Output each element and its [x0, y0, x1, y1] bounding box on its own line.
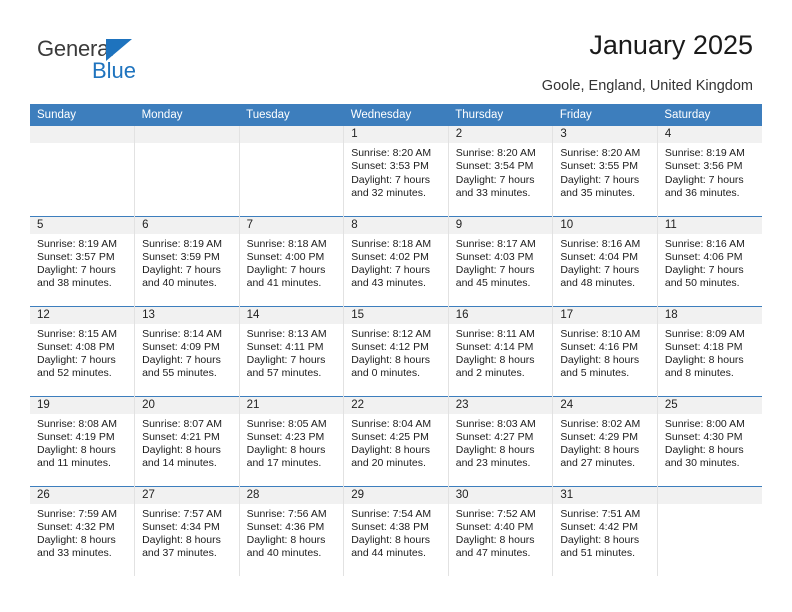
- day-info-sunset: Sunset: 4:00 PM: [247, 251, 339, 264]
- weekday-header-saturday: Saturday: [657, 104, 762, 126]
- day-info-daylight1: Daylight: 7 hours: [37, 264, 129, 277]
- calendar-day-cell[interactable]: 18Sunrise: 8:09 AMSunset: 4:18 PMDayligh…: [657, 306, 762, 396]
- day-info: Sunrise: 8:12 AMSunset: 4:12 PMDaylight:…: [344, 324, 448, 381]
- calendar-day-cell[interactable]: 27Sunrise: 7:57 AMSunset: 4:34 PMDayligh…: [135, 486, 240, 576]
- day-info-sunset: Sunset: 3:56 PM: [665, 160, 757, 173]
- day-number: 30: [449, 487, 553, 504]
- day-info-sunrise: Sunrise: 8:08 AM: [37, 418, 129, 431]
- day-info-sunset: Sunset: 3:54 PM: [456, 160, 548, 173]
- day-info: Sunrise: 8:19 AMSunset: 3:57 PMDaylight:…: [30, 234, 134, 291]
- calendar-day-cell[interactable]: 15Sunrise: 8:12 AMSunset: 4:12 PMDayligh…: [344, 306, 449, 396]
- day-number: 5: [30, 217, 134, 234]
- day-info-sunrise: Sunrise: 7:52 AM: [456, 508, 548, 521]
- day-info-sunset: Sunset: 3:55 PM: [560, 160, 652, 173]
- day-info-daylight1: Daylight: 7 hours: [247, 354, 339, 367]
- day-info-daylight2: and 44 minutes.: [351, 547, 443, 560]
- calendar-day-cell[interactable]: 2Sunrise: 8:20 AMSunset: 3:54 PMDaylight…: [448, 126, 553, 216]
- day-info-daylight1: Daylight: 7 hours: [142, 354, 234, 367]
- day-info-daylight1: Daylight: 8 hours: [560, 444, 652, 457]
- day-info-daylight2: and 52 minutes.: [37, 367, 129, 380]
- day-info: Sunrise: 7:52 AMSunset: 4:40 PMDaylight:…: [449, 504, 553, 561]
- day-info-daylight2: and 2 minutes.: [456, 367, 548, 380]
- calendar-day-cell[interactable]: 9Sunrise: 8:17 AMSunset: 4:03 PMDaylight…: [448, 216, 553, 306]
- day-number: 11: [658, 217, 762, 234]
- calendar-day-cell[interactable]: 10Sunrise: 8:16 AMSunset: 4:04 PMDayligh…: [553, 216, 658, 306]
- day-number: 18: [658, 307, 762, 324]
- calendar-day-cell[interactable]: 4Sunrise: 8:19 AMSunset: 3:56 PMDaylight…: [657, 126, 762, 216]
- day-info: Sunrise: 8:20 AMSunset: 3:54 PMDaylight:…: [449, 143, 553, 200]
- calendar-day-cell[interactable]: 5Sunrise: 8:19 AMSunset: 3:57 PMDaylight…: [30, 216, 135, 306]
- day-info-daylight1: Daylight: 7 hours: [560, 174, 652, 187]
- day-info-sunrise: Sunrise: 8:16 AM: [560, 238, 652, 251]
- day-info: Sunrise: 8:14 AMSunset: 4:09 PMDaylight:…: [135, 324, 239, 381]
- calendar-day-cell[interactable]: 24Sunrise: 8:02 AMSunset: 4:29 PMDayligh…: [553, 396, 658, 486]
- day-info: Sunrise: 8:09 AMSunset: 4:18 PMDaylight:…: [658, 324, 762, 381]
- day-info-sunrise: Sunrise: 8:11 AM: [456, 328, 548, 341]
- day-info-daylight1: Daylight: 8 hours: [351, 534, 443, 547]
- day-info-daylight1: Daylight: 7 hours: [351, 264, 443, 277]
- day-info-sunrise: Sunrise: 8:19 AM: [37, 238, 129, 251]
- weekday-header-wednesday: Wednesday: [344, 104, 449, 126]
- day-info: Sunrise: 7:57 AMSunset: 4:34 PMDaylight:…: [135, 504, 239, 561]
- calendar-day-cell[interactable]: 21Sunrise: 8:05 AMSunset: 4:23 PMDayligh…: [239, 396, 344, 486]
- day-info-daylight1: Daylight: 7 hours: [456, 174, 548, 187]
- day-info: Sunrise: 8:10 AMSunset: 4:16 PMDaylight:…: [553, 324, 657, 381]
- day-info-sunrise: Sunrise: 8:20 AM: [560, 147, 652, 160]
- day-info-daylight1: Daylight: 8 hours: [665, 354, 757, 367]
- day-info-sunrise: Sunrise: 8:07 AM: [142, 418, 234, 431]
- day-info-sunrise: Sunrise: 7:57 AM: [142, 508, 234, 521]
- calendar-day-cell[interactable]: 22Sunrise: 8:04 AMSunset: 4:25 PMDayligh…: [344, 396, 449, 486]
- day-info-daylight2: and 0 minutes.: [351, 367, 443, 380]
- day-info-sunset: Sunset: 4:40 PM: [456, 521, 548, 534]
- logo-text-blue: Blue: [92, 58, 136, 84]
- day-number: 4: [658, 126, 762, 143]
- day-info-daylight2: and 35 minutes.: [560, 187, 652, 200]
- day-number: 22: [344, 397, 448, 414]
- day-info-daylight1: Daylight: 8 hours: [37, 534, 129, 547]
- calendar-day-cell-empty: [30, 126, 135, 216]
- day-info: Sunrise: 8:20 AMSunset: 3:53 PMDaylight:…: [344, 143, 448, 200]
- day-info-sunrise: Sunrise: 8:18 AM: [247, 238, 339, 251]
- day-info-sunrise: Sunrise: 7:54 AM: [351, 508, 443, 521]
- day-info-sunset: Sunset: 4:02 PM: [351, 251, 443, 264]
- day-number: 29: [344, 487, 448, 504]
- day-info-daylight2: and 57 minutes.: [247, 367, 339, 380]
- day-number: 25: [658, 397, 762, 414]
- day-info-sunrise: Sunrise: 7:51 AM: [560, 508, 652, 521]
- day-info-sunrise: Sunrise: 8:05 AM: [247, 418, 339, 431]
- calendar-body: 1Sunrise: 8:20 AMSunset: 3:53 PMDaylight…: [30, 126, 762, 576]
- day-info-sunrise: Sunrise: 8:15 AM: [37, 328, 129, 341]
- day-info-sunrise: Sunrise: 8:17 AM: [456, 238, 548, 251]
- day-info-daylight2: and 48 minutes.: [560, 277, 652, 290]
- day-info-daylight1: Daylight: 8 hours: [247, 534, 339, 547]
- day-info-daylight1: Daylight: 7 hours: [142, 264, 234, 277]
- day-info: Sunrise: 8:08 AMSunset: 4:19 PMDaylight:…: [30, 414, 134, 471]
- day-number: [135, 126, 239, 143]
- day-info-sunrise: Sunrise: 8:13 AM: [247, 328, 339, 341]
- day-info-sunset: Sunset: 4:38 PM: [351, 521, 443, 534]
- calendar-week-row: 19Sunrise: 8:08 AMSunset: 4:19 PMDayligh…: [30, 396, 762, 486]
- day-info-daylight1: Daylight: 8 hours: [351, 354, 443, 367]
- generalblue-logo[interactable]: General Blue: [37, 36, 177, 88]
- day-info: Sunrise: 8:11 AMSunset: 4:14 PMDaylight:…: [449, 324, 553, 381]
- day-info-sunset: Sunset: 4:23 PM: [247, 431, 339, 444]
- calendar-day-cell-empty: [239, 126, 344, 216]
- weekday-header-friday: Friday: [553, 104, 658, 126]
- day-number: 31: [553, 487, 657, 504]
- day-info-sunrise: Sunrise: 8:12 AM: [351, 328, 443, 341]
- day-info-sunset: Sunset: 4:29 PM: [560, 431, 652, 444]
- day-info: Sunrise: 8:19 AMSunset: 3:56 PMDaylight:…: [658, 143, 762, 200]
- day-info-sunrise: Sunrise: 8:19 AM: [665, 147, 757, 160]
- day-info-daylight2: and 36 minutes.: [665, 187, 757, 200]
- day-number: 13: [135, 307, 239, 324]
- day-info-daylight1: Daylight: 8 hours: [560, 354, 652, 367]
- day-info-daylight2: and 5 minutes.: [560, 367, 652, 380]
- day-number: 15: [344, 307, 448, 324]
- calendar-week-row: 5Sunrise: 8:19 AMSunset: 3:57 PMDaylight…: [30, 216, 762, 306]
- day-info-daylight2: and 33 minutes.: [456, 187, 548, 200]
- day-info-sunset: Sunset: 4:08 PM: [37, 341, 129, 354]
- day-info-daylight1: Daylight: 7 hours: [247, 264, 339, 277]
- day-info: Sunrise: 8:00 AMSunset: 4:30 PMDaylight:…: [658, 414, 762, 471]
- day-number: 6: [135, 217, 239, 234]
- calendar-day-cell[interactable]: 16Sunrise: 8:11 AMSunset: 4:14 PMDayligh…: [448, 306, 553, 396]
- day-info-sunrise: Sunrise: 8:09 AM: [665, 328, 757, 341]
- weekday-header-row: Sunday Monday Tuesday Wednesday Thursday…: [30, 104, 762, 126]
- day-info-daylight1: Daylight: 8 hours: [142, 444, 234, 457]
- day-number: [240, 126, 344, 143]
- day-info-daylight2: and 43 minutes.: [351, 277, 443, 290]
- day-info: Sunrise: 8:13 AMSunset: 4:11 PMDaylight:…: [240, 324, 344, 381]
- weekday-header-thursday: Thursday: [448, 104, 553, 126]
- day-info-sunset: Sunset: 4:14 PM: [456, 341, 548, 354]
- day-info-sunrise: Sunrise: 8:03 AM: [456, 418, 548, 431]
- calendar-day-cell[interactable]: 29Sunrise: 7:54 AMSunset: 4:38 PMDayligh…: [344, 486, 449, 576]
- day-info-daylight1: Daylight: 7 hours: [456, 264, 548, 277]
- day-info-sunrise: Sunrise: 8:20 AM: [351, 147, 443, 160]
- day-info: Sunrise: 8:02 AMSunset: 4:29 PMDaylight:…: [553, 414, 657, 471]
- page-subtitle: Goole, England, United Kingdom: [542, 78, 753, 94]
- day-info-sunrise: Sunrise: 8:00 AM: [665, 418, 757, 431]
- day-number: 16: [449, 307, 553, 324]
- day-info-sunset: Sunset: 4:18 PM: [665, 341, 757, 354]
- day-info-daylight1: Daylight: 7 hours: [351, 174, 443, 187]
- day-number: 26: [30, 487, 134, 504]
- day-info-sunset: Sunset: 4:36 PM: [247, 521, 339, 534]
- day-info-sunrise: Sunrise: 8:18 AM: [351, 238, 443, 251]
- day-number: 12: [30, 307, 134, 324]
- day-info-daylight2: and 45 minutes.: [456, 277, 548, 290]
- day-info-sunset: Sunset: 4:21 PM: [142, 431, 234, 444]
- calendar-day-cell[interactable]: 23Sunrise: 8:03 AMSunset: 4:27 PMDayligh…: [448, 396, 553, 486]
- calendar-day-cell[interactable]: 14Sunrise: 8:13 AMSunset: 4:11 PMDayligh…: [239, 306, 344, 396]
- day-info-sunset: Sunset: 4:06 PM: [665, 251, 757, 264]
- weekday-header-monday: Monday: [135, 104, 240, 126]
- calendar-day-cell[interactable]: 19Sunrise: 8:08 AMSunset: 4:19 PMDayligh…: [30, 396, 135, 486]
- day-info-daylight1: Daylight: 8 hours: [560, 534, 652, 547]
- day-number: 17: [553, 307, 657, 324]
- day-info-sunset: Sunset: 4:03 PM: [456, 251, 548, 264]
- day-info: Sunrise: 8:15 AMSunset: 4:08 PMDaylight:…: [30, 324, 134, 381]
- day-info: Sunrise: 8:18 AMSunset: 4:00 PMDaylight:…: [240, 234, 344, 291]
- day-info-sunrise: Sunrise: 8:04 AM: [351, 418, 443, 431]
- day-number: 14: [240, 307, 344, 324]
- day-number: 27: [135, 487, 239, 504]
- day-info-daylight2: and 50 minutes.: [665, 277, 757, 290]
- page-header: General Blue January 2025 Goole, England…: [0, 0, 792, 103]
- day-number: 2: [449, 126, 553, 143]
- calendar-day-cell[interactable]: 25Sunrise: 8:00 AMSunset: 4:30 PMDayligh…: [657, 396, 762, 486]
- day-info-sunset: Sunset: 3:53 PM: [351, 160, 443, 173]
- calendar-day-cell[interactable]: 17Sunrise: 8:10 AMSunset: 4:16 PMDayligh…: [553, 306, 658, 396]
- day-info: Sunrise: 8:19 AMSunset: 3:59 PMDaylight:…: [135, 234, 239, 291]
- calendar-day-cell[interactable]: 8Sunrise: 8:18 AMSunset: 4:02 PMDaylight…: [344, 216, 449, 306]
- day-info-daylight2: and 41 minutes.: [247, 277, 339, 290]
- day-info: Sunrise: 8:17 AMSunset: 4:03 PMDaylight:…: [449, 234, 553, 291]
- day-number: 3: [553, 126, 657, 143]
- day-info-daylight1: Daylight: 8 hours: [37, 444, 129, 457]
- day-number: 28: [240, 487, 344, 504]
- day-info-sunset: Sunset: 4:25 PM: [351, 431, 443, 444]
- day-info-sunset: Sunset: 4:16 PM: [560, 341, 652, 354]
- day-info-daylight1: Daylight: 8 hours: [456, 354, 548, 367]
- day-info-daylight2: and 8 minutes.: [665, 367, 757, 380]
- day-info-daylight1: Daylight: 8 hours: [456, 534, 548, 547]
- day-info-sunset: Sunset: 4:19 PM: [37, 431, 129, 444]
- day-info: Sunrise: 8:16 AMSunset: 4:06 PMDaylight:…: [658, 234, 762, 291]
- calendar-day-cell[interactable]: 7Sunrise: 8:18 AMSunset: 4:00 PMDaylight…: [239, 216, 344, 306]
- calendar-day-cell[interactable]: 26Sunrise: 7:59 AMSunset: 4:32 PMDayligh…: [30, 486, 135, 576]
- day-info-sunrise: Sunrise: 7:59 AM: [37, 508, 129, 521]
- calendar-week-row: 26Sunrise: 7:59 AMSunset: 4:32 PMDayligh…: [30, 486, 762, 576]
- day-info-daylight2: and 20 minutes.: [351, 457, 443, 470]
- day-info-daylight2: and 40 minutes.: [247, 547, 339, 560]
- calendar-container: Sunday Monday Tuesday Wednesday Thursday…: [30, 104, 762, 576]
- day-number: 24: [553, 397, 657, 414]
- calendar-day-cell[interactable]: 12Sunrise: 8:15 AMSunset: 4:08 PMDayligh…: [30, 306, 135, 396]
- day-number: [658, 487, 762, 504]
- calendar-table: Sunday Monday Tuesday Wednesday Thursday…: [30, 104, 762, 576]
- day-info-daylight2: and 47 minutes.: [456, 547, 548, 560]
- day-number: 23: [449, 397, 553, 414]
- day-info-daylight1: Daylight: 7 hours: [665, 174, 757, 187]
- weekday-header-sunday: Sunday: [30, 104, 135, 126]
- day-info-sunrise: Sunrise: 8:19 AM: [142, 238, 234, 251]
- day-info: Sunrise: 8:20 AMSunset: 3:55 PMDaylight:…: [553, 143, 657, 200]
- day-number: 1: [344, 126, 448, 143]
- day-number: 8: [344, 217, 448, 234]
- day-info-sunset: Sunset: 4:12 PM: [351, 341, 443, 354]
- day-info: Sunrise: 8:05 AMSunset: 4:23 PMDaylight:…: [240, 414, 344, 471]
- day-info: Sunrise: 7:51 AMSunset: 4:42 PMDaylight:…: [553, 504, 657, 561]
- calendar-day-cell-empty: [135, 126, 240, 216]
- day-info-daylight1: Daylight: 7 hours: [560, 264, 652, 277]
- calendar-day-cell[interactable]: 6Sunrise: 8:19 AMSunset: 3:59 PMDaylight…: [135, 216, 240, 306]
- day-info-daylight2: and 32 minutes.: [351, 187, 443, 200]
- day-number: 19: [30, 397, 134, 414]
- day-info: Sunrise: 7:59 AMSunset: 4:32 PMDaylight:…: [30, 504, 134, 561]
- calendar-day-cell[interactable]: 13Sunrise: 8:14 AMSunset: 4:09 PMDayligh…: [135, 306, 240, 396]
- calendar-day-cell[interactable]: 1Sunrise: 8:20 AMSunset: 3:53 PMDaylight…: [344, 126, 449, 216]
- day-info-daylight2: and 55 minutes.: [142, 367, 234, 380]
- day-info-sunrise: Sunrise: 8:02 AM: [560, 418, 652, 431]
- day-info: Sunrise: 8:03 AMSunset: 4:27 PMDaylight:…: [449, 414, 553, 471]
- day-info: Sunrise: 8:18 AMSunset: 4:02 PMDaylight:…: [344, 234, 448, 291]
- day-info-daylight2: and 33 minutes.: [37, 547, 129, 560]
- day-info-sunset: Sunset: 4:30 PM: [665, 431, 757, 444]
- day-number: 9: [449, 217, 553, 234]
- day-info: Sunrise: 8:16 AMSunset: 4:04 PMDaylight:…: [553, 234, 657, 291]
- day-info-daylight2: and 37 minutes.: [142, 547, 234, 560]
- day-info: Sunrise: 7:54 AMSunset: 4:38 PMDaylight:…: [344, 504, 448, 561]
- day-info-sunset: Sunset: 3:57 PM: [37, 251, 129, 264]
- day-number: [30, 126, 134, 143]
- calendar-head: Sunday Monday Tuesday Wednesday Thursday…: [30, 104, 762, 126]
- day-info-sunrise: Sunrise: 8:10 AM: [560, 328, 652, 341]
- day-number: 20: [135, 397, 239, 414]
- calendar-page: General Blue January 2025 Goole, England…: [0, 0, 792, 612]
- day-info-daylight2: and 27 minutes.: [560, 457, 652, 470]
- page-title: January 2025: [589, 30, 753, 61]
- day-info-sunset: Sunset: 4:11 PM: [247, 341, 339, 354]
- day-info-sunset: Sunset: 4:42 PM: [560, 521, 652, 534]
- day-info-daylight1: Daylight: 8 hours: [142, 534, 234, 547]
- day-info-sunset: Sunset: 4:32 PM: [37, 521, 129, 534]
- day-info-sunrise: Sunrise: 8:14 AM: [142, 328, 234, 341]
- day-info: Sunrise: 7:56 AMSunset: 4:36 PMDaylight:…: [240, 504, 344, 561]
- calendar-day-cell[interactable]: 28Sunrise: 7:56 AMSunset: 4:36 PMDayligh…: [239, 486, 344, 576]
- day-info-daylight2: and 40 minutes.: [142, 277, 234, 290]
- day-info-daylight1: Daylight: 8 hours: [456, 444, 548, 457]
- day-info-daylight1: Daylight: 8 hours: [247, 444, 339, 457]
- day-info-sunset: Sunset: 4:34 PM: [142, 521, 234, 534]
- day-info-sunrise: Sunrise: 7:56 AM: [247, 508, 339, 521]
- day-info: Sunrise: 8:04 AMSunset: 4:25 PMDaylight:…: [344, 414, 448, 471]
- calendar-day-cell[interactable]: 11Sunrise: 8:16 AMSunset: 4:06 PMDayligh…: [657, 216, 762, 306]
- day-info-daylight2: and 11 minutes.: [37, 457, 129, 470]
- day-info-daylight1: Daylight: 8 hours: [351, 444, 443, 457]
- day-info-daylight1: Daylight: 8 hours: [665, 444, 757, 457]
- day-info: Sunrise: 8:07 AMSunset: 4:21 PMDaylight:…: [135, 414, 239, 471]
- day-info-sunset: Sunset: 4:27 PM: [456, 431, 548, 444]
- day-number: 7: [240, 217, 344, 234]
- calendar-week-row: 12Sunrise: 8:15 AMSunset: 4:08 PMDayligh…: [30, 306, 762, 396]
- day-info-daylight2: and 14 minutes.: [142, 457, 234, 470]
- day-info-sunrise: Sunrise: 8:20 AM: [456, 147, 548, 160]
- day-number: 21: [240, 397, 344, 414]
- day-number: 10: [553, 217, 657, 234]
- day-info-daylight2: and 51 minutes.: [560, 547, 652, 560]
- day-info-sunset: Sunset: 3:59 PM: [142, 251, 234, 264]
- calendar-day-cell[interactable]: 20Sunrise: 8:07 AMSunset: 4:21 PMDayligh…: [135, 396, 240, 486]
- calendar-day-cell[interactable]: 30Sunrise: 7:52 AMSunset: 4:40 PMDayligh…: [448, 486, 553, 576]
- weekday-header-tuesday: Tuesday: [239, 104, 344, 126]
- day-info-daylight1: Daylight: 7 hours: [665, 264, 757, 277]
- calendar-week-row: 1Sunrise: 8:20 AMSunset: 3:53 PMDaylight…: [30, 126, 762, 216]
- day-info-sunset: Sunset: 4:04 PM: [560, 251, 652, 264]
- day-info-sunrise: Sunrise: 8:16 AM: [665, 238, 757, 251]
- day-info-daylight2: and 17 minutes.: [247, 457, 339, 470]
- day-info-daylight2: and 30 minutes.: [665, 457, 757, 470]
- day-info-daylight1: Daylight: 7 hours: [37, 354, 129, 367]
- day-info-daylight2: and 23 minutes.: [456, 457, 548, 470]
- day-info-sunset: Sunset: 4:09 PM: [142, 341, 234, 354]
- calendar-day-cell[interactable]: 31Sunrise: 7:51 AMSunset: 4:42 PMDayligh…: [553, 486, 658, 576]
- calendar-day-cell-empty: [657, 486, 762, 576]
- calendar-day-cell[interactable]: 3Sunrise: 8:20 AMSunset: 3:55 PMDaylight…: [553, 126, 658, 216]
- day-info-daylight2: and 38 minutes.: [37, 277, 129, 290]
